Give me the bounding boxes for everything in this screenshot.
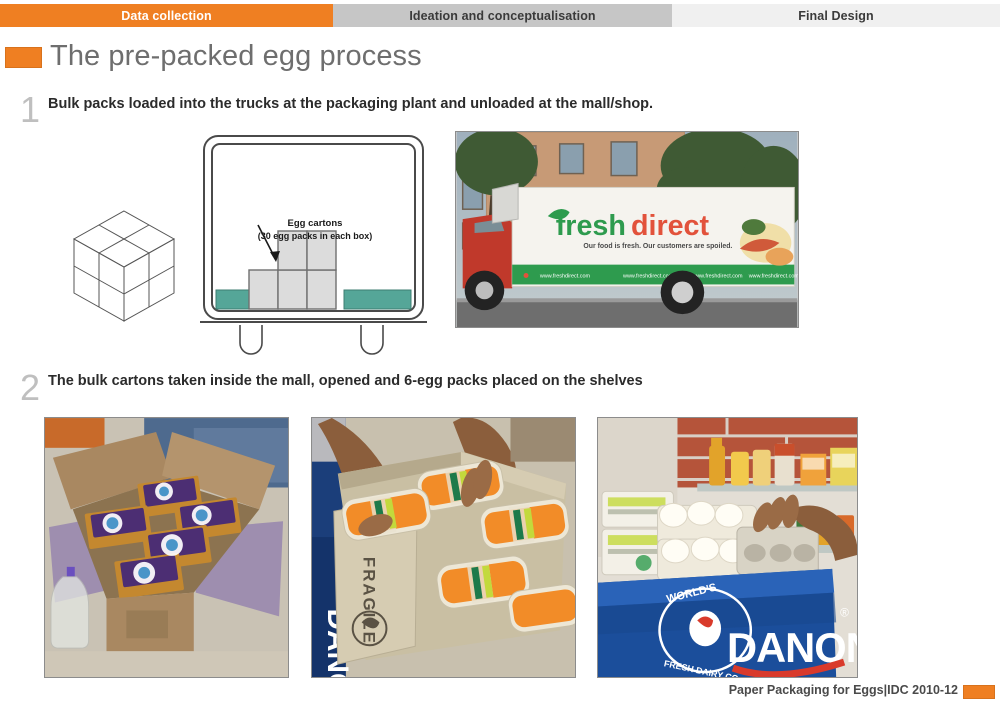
svg-text:direct: direct [631, 210, 710, 242]
bulk-pack-cube-icon [62, 203, 187, 328]
page-title: The pre-packed egg process [50, 40, 422, 73]
svg-text:®: ® [840, 605, 849, 619]
step-number-1: 1 [20, 92, 40, 128]
title-accent-bar [5, 47, 42, 68]
step-number-2: 2 [20, 370, 40, 406]
truck-label-egg-cartons: Egg cartons [245, 218, 385, 230]
tab-data-collection[interactable]: Data collection [0, 4, 333, 27]
tab-final-design[interactable]: Final Design [672, 4, 1000, 27]
photo-hands-unpacking-egg-packs: DANO FRAGILE [311, 417, 576, 678]
progress-tabbar: Data collection Ideation and conceptuali… [0, 4, 1000, 27]
photo-open-bulk-carton [44, 417, 289, 678]
svg-text:FRAGILE: FRAGILE [360, 557, 379, 645]
step-text-2: The bulk cartons taken inside the mall, … [48, 373, 643, 389]
step-text-1: Bulk packs loaded into the trucks at the… [48, 96, 653, 112]
svg-text:fresh: fresh [556, 210, 626, 242]
svg-text:Our food is fresh. Our custome: Our food is fresh. Our customers are spo… [583, 243, 732, 250]
footer-accent-bar [963, 685, 995, 699]
tab-label: Ideation and conceptualisation [409, 9, 595, 23]
photo-freshdirect-truck: fresh direct Our food is fresh. Our cust… [455, 131, 799, 328]
tab-ideation-conceptualisation[interactable]: Ideation and conceptualisation [333, 4, 672, 27]
truck-label-packs-per-box: (30 egg packs in each box) [235, 231, 395, 242]
footer-credit: Paper Packaging for Eggs|IDC 2010-12 [729, 683, 958, 697]
tab-label: Data collection [121, 9, 211, 23]
svg-text:www.freshdirect.com: www.freshdirect.com [748, 274, 798, 280]
photo-shop-shelf-danone-cooler: WORLD'S FRESH DAIRY CO DANONe ® [597, 417, 858, 678]
tab-label: Final Design [798, 9, 874, 23]
svg-text:www.freshdirect.com: www.freshdirect.com [539, 274, 591, 280]
truck-cross-section-diagram [196, 130, 431, 355]
